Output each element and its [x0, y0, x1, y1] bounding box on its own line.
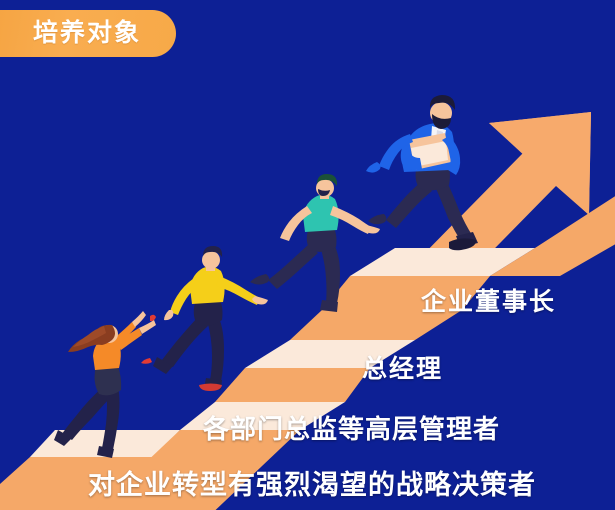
poster-root: 培养对象 企业董事长 总经理 各部门总监等高层管理者 对企业转型有强烈渴望的战略… — [0, 0, 615, 510]
step-caption-strategic-decision-makers: 对企业转型有强烈渴望的战略决策者 — [88, 472, 536, 499]
step-caption-general-manager: 总经理 — [362, 357, 443, 382]
step-caption-senior-managers: 各部门总监等高层管理者 — [203, 416, 500, 442]
step-caption-chairman: 企业董事长 — [421, 290, 556, 315]
section-badge-label: 培养对象 — [33, 21, 141, 46]
section-badge: 培养对象 — [0, 10, 176, 57]
